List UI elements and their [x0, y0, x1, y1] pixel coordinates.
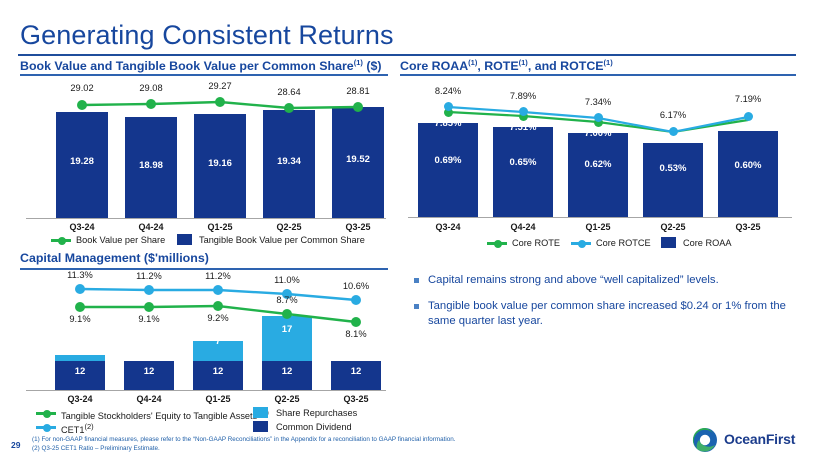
xtick-capital-2: Q1-25	[193, 394, 243, 404]
footnote-ref-1-a: (1)	[468, 58, 477, 67]
legend-marker-cet1	[36, 426, 56, 429]
legend-marker-book-value-per-share	[51, 239, 71, 242]
footnote-1: (1) For non-GAAP financial measures, ple…	[32, 436, 456, 443]
point-rotce-q3-24	[444, 102, 453, 111]
panel-divider-book-value	[20, 74, 388, 76]
point-bvps-q2-25	[284, 103, 294, 113]
legend-label-tce-to-ta-text: Tangible Stockholders' Equity to Tangibl…	[61, 411, 260, 421]
point-label-cet1-q3-24: 11.3%	[55, 270, 105, 280]
legend-label-share-repurchases: Share Repurchases	[276, 408, 357, 418]
plot-area-book-value: 19.28 18.98 19.16 19.34 19.52 29.02 29.0…	[20, 80, 390, 225]
legend-marker-tangible-book-value	[177, 234, 192, 245]
point-cet1-q4-24	[144, 285, 154, 295]
point-label-bvps-q1-25: 29.27	[194, 81, 246, 91]
point-label-rotce-q3-25: 7.19%	[718, 94, 778, 104]
point-bvps-q4-24	[146, 99, 156, 109]
point-label-bvps-q3-25: 28.81	[332, 86, 384, 96]
point-rotce-q2-25	[669, 127, 678, 136]
xtick-book-value-4: Q3-25	[332, 222, 384, 232]
legend-marker-tce-to-ta	[36, 412, 56, 415]
legend-marker-core-roaa	[661, 237, 676, 248]
bullet-square-icon	[414, 304, 419, 309]
bullet-square-icon	[414, 278, 419, 283]
point-rotce-q1-25	[594, 113, 603, 122]
xtick-book-value-3: Q2-25	[263, 222, 315, 232]
point-label-bvps-q2-25: 28.64	[263, 87, 315, 97]
xtick-capital-3: Q2-25	[262, 394, 312, 404]
line-series-book-value-per-share	[20, 80, 390, 225]
point-label-cet1-q3-25: 10.6%	[331, 281, 381, 291]
xtick-book-value-0: Q3-24	[56, 222, 108, 232]
chart-core-returns: 7.85% 7.51% 7.00% 0.69% 0.65% 0.62% 0.53…	[400, 86, 798, 234]
point-bvps-q1-25	[215, 97, 225, 107]
point-label-bvps-q4-24: 29.08	[125, 83, 177, 93]
point-bvps-q3-24	[77, 100, 87, 110]
legend-label-core-roaa: Core ROAA	[683, 238, 732, 248]
legend-label-common-dividend: Common Dividend	[276, 422, 352, 432]
point-label-tce-q1-25: 9.2%	[193, 313, 243, 323]
panel-header-core-returns: Core ROAA(1), ROTE(1), and ROTCE(1)	[400, 58, 613, 73]
line-series-core-returns	[400, 86, 798, 234]
slide-number: 29	[11, 440, 20, 450]
point-label-rotce-q4-24: 7.89%	[493, 91, 553, 101]
legend-label-core-rotce: Core ROTCE	[596, 238, 651, 248]
point-label-tce-q3-25: 8.1%	[331, 329, 381, 339]
footnote-ref-1-b: (1)	[519, 58, 528, 67]
point-label-tce-q2-25: 8.7%	[262, 295, 312, 305]
point-label-cet1-q1-25: 11.2%	[193, 271, 243, 281]
xtick-core-returns-4: Q3-25	[718, 222, 778, 232]
point-tce-q3-25	[351, 317, 361, 327]
legend-marker-core-rote	[487, 242, 507, 245]
oceanfirst-wordmark: OceanFirst	[724, 431, 795, 447]
chart-book-value: 19.28 18.98 19.16 19.34 19.52 29.02 29.0…	[20, 80, 390, 225]
xtick-capital-1: Q4-24	[124, 394, 174, 404]
panel-header-core-returns-b: , ROTE	[477, 59, 518, 73]
page-title: Generating Consistent Returns	[20, 20, 394, 51]
point-bvps-q3-25	[353, 102, 363, 112]
bullet-text-tbv-growth: Tangible book value per common share inc…	[428, 300, 786, 327]
xtick-book-value-1: Q4-24	[125, 222, 177, 232]
title-divider	[18, 54, 796, 56]
footnote-2: (2) Q3-25 CET1 Ratio – Preliminary Estim…	[32, 445, 160, 452]
footnote-ref-2-legend: (2)	[85, 422, 94, 431]
xtick-book-value-2: Q1-25	[194, 222, 246, 232]
legend-label-tce-to-ta: Tangible Stockholders' Equity to Tangibl…	[61, 408, 269, 421]
point-label-rotce-q1-25: 7.34%	[568, 97, 628, 107]
plot-area-core-returns: 7.85% 7.51% 7.00% 0.69% 0.65% 0.62% 0.53…	[400, 86, 798, 234]
slide-canvas: Generating Consistent Returns Book Value…	[0, 0, 820, 461]
point-rotce-q3-25	[744, 112, 753, 121]
point-cet1-q3-24	[75, 284, 85, 294]
panel-header-core-returns-a: Core ROAA	[400, 59, 468, 73]
wordmark-first: First	[766, 431, 795, 447]
panel-header-book-value: Book Value and Tangible Book Value per C…	[20, 58, 381, 73]
legend-label-book-value-per-share: Book Value per Share	[76, 235, 165, 245]
point-label-cet1-q2-25: 11.0%	[262, 275, 312, 285]
point-tce-q1-25	[213, 301, 223, 311]
panel-header-book-value-tail: ($)	[363, 59, 382, 73]
legend-label-tangible-book-value: Tangible Book Value per Common Share	[199, 235, 365, 245]
xtick-core-returns-3: Q2-25	[643, 222, 703, 232]
panel-header-core-returns-c: , and ROTCE	[528, 59, 604, 73]
xtick-capital-0: Q3-24	[55, 394, 105, 404]
legend-label-cet1-text: CET1	[61, 425, 85, 435]
point-cet1-q1-25	[213, 285, 223, 295]
point-label-tce-q3-24: 9.1%	[55, 314, 105, 324]
xtick-capital-4: Q3-25	[331, 394, 381, 404]
point-label-cet1-q4-24: 11.2%	[124, 271, 174, 281]
legend-marker-share-repurchases	[253, 407, 268, 418]
point-tce-q4-24	[144, 302, 154, 312]
point-tce-q2-25	[282, 309, 292, 319]
footnote-ref-1-c: (1)	[604, 58, 613, 67]
xtick-core-returns-0: Q3-24	[418, 222, 478, 232]
footnote-ref-1: (1)	[354, 58, 363, 67]
legend-label-cet1: CET1(2)	[61, 422, 94, 435]
point-label-rotce-q3-24: 8.24%	[418, 86, 478, 96]
point-label-bvps-q3-24: 29.02	[56, 83, 108, 93]
point-rotce-q4-24	[519, 107, 528, 116]
panel-divider-core-returns	[400, 74, 796, 76]
point-label-tce-q4-24: 9.1%	[124, 314, 174, 324]
legend-marker-common-dividend	[253, 421, 268, 432]
legend-label-core-rote: Core ROTE	[512, 238, 560, 248]
bullet-item-capital-strength: Capital remains strong and above “well c…	[412, 273, 802, 288]
point-tce-q3-24	[75, 302, 85, 312]
key-takeaways-list: Capital remains strong and above “well c…	[412, 273, 802, 340]
panel-header-book-value-text: Book Value and Tangible Book Value per C…	[20, 59, 354, 73]
panel-header-capital-management: Capital Management ($'millions)	[20, 251, 209, 265]
chart-capital-management: 12 12 12 12 12 1 0 7 17 0	[20, 272, 390, 400]
bullet-item-tbv-growth: Tangible book value per common share inc…	[412, 299, 802, 329]
wordmark-ocean: Ocean	[724, 431, 766, 447]
legend-marker-core-rotce	[571, 242, 591, 245]
point-cet1-q3-25	[351, 295, 361, 305]
plot-area-capital-management: 12 12 12 12 12 1 0 7 17 0	[20, 272, 390, 400]
point-label-rotce-q2-25: 6.17%	[643, 110, 703, 120]
bullet-text-capital-strength: Capital remains strong and above “well c…	[428, 274, 719, 286]
xtick-core-returns-1: Q4-24	[493, 222, 553, 232]
xtick-core-returns-2: Q1-25	[568, 222, 628, 232]
